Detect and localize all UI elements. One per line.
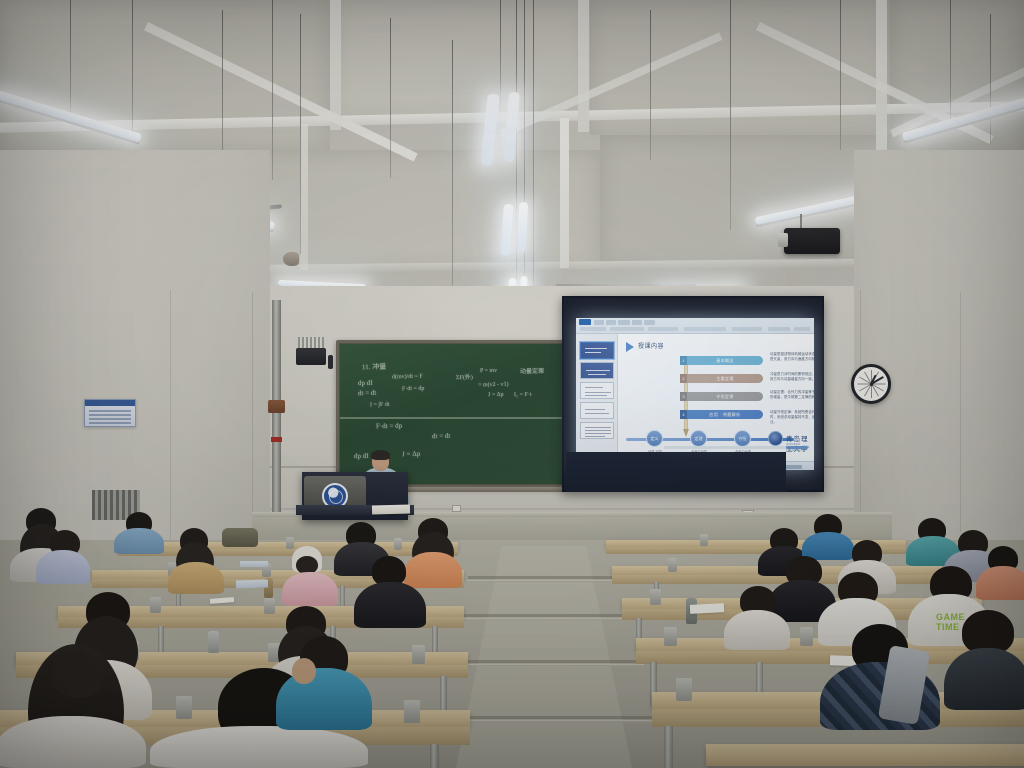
chalk-text: dp dI [354,452,369,460]
slide-thumbnail[interactable] [580,382,614,399]
desk-clamp [286,537,294,549]
ceiling-beam [578,0,589,132]
slide-stage: 授课内容 1 基本概念 动量是描述物体机械运动状态的量，它是矢量，其方向与速度方… [618,334,814,461]
lecture-hall-photo: 11. 冲量 dp dI dt = dt d(mv)/dt = F F·dt =… [0,0,1024,768]
banner-row: 应用 · 例题解析 [687,410,763,419]
slide-thumbnail[interactable] [580,402,614,419]
ceiling-beam [330,0,341,130]
chalk-text: F·dt = dp [402,386,425,392]
banner-number: 2 [680,374,687,383]
notebook [236,579,268,588]
timeline-node: 守恒 [734,430,751,447]
water-bottle [208,631,219,653]
timeline-node: 定理 [690,430,707,447]
chalk-text: dt = dt [432,432,451,440]
chalk-text: I₂ = F·t [514,392,532,398]
chalk-text: P = mv [480,368,497,374]
pipe-marker [271,437,282,442]
room-information-placard [84,399,136,427]
slide-thumbnail[interactable] [580,362,614,379]
tshirt-text: GAME TIME [936,612,965,632]
ribbon-tab-active[interactable] [579,319,591,325]
banner-note: 动量守恒定律：系统所受合外力为零时，系统总动量保持不变，适用范围广泛。 [770,410,814,425]
right-wall [854,150,1024,560]
ceiling-beam [300,124,308,270]
desk-clamp [676,678,692,701]
ceiling-beam [560,118,569,268]
backpack [222,528,258,547]
desk-clamp [650,589,661,605]
chalk-text: 11. 冲量 [362,362,386,373]
university-logo-icon [768,431,783,446]
screen-lower-board [566,452,786,492]
chalk-text: = m(v2 - v1) [478,382,509,389]
chalk-text: J = Δp [488,392,504,398]
ceiling-projector [784,228,840,254]
horn-speaker-icon [283,252,299,266]
chalk-text: J = Δp [402,450,420,458]
desk-clamp [412,645,425,664]
speaker-grill-icon [298,337,324,348]
slide-thumbnail[interactable] [580,342,614,359]
powerpoint-ribbon [576,318,814,334]
banner-note: 动量定理：合外力的冲量等于质点动量的增量，是牛顿第二定律的积分形式。 [770,390,814,400]
wall-amplifier[interactable] [296,348,326,365]
desk-clamp [404,700,420,723]
ceiling-beam [876,0,887,150]
fire-standpipe [272,300,281,530]
pipe-valve[interactable] [268,400,285,413]
timeline-node: 定义 [646,430,663,447]
banner-row: 基本概念 [687,356,763,365]
desk-clamp [668,558,677,572]
banner-row: 主要定理 [687,374,763,383]
horizontal-scrollbar[interactable] [664,446,808,449]
chalk-text: ΣF(外) [456,372,473,381]
desk-clamp [800,627,813,646]
paper-sheet [690,603,724,614]
desk-clamp [264,598,275,614]
banner-number: 3 [680,392,687,401]
desk-clamp [150,597,161,613]
lecturer-hair [371,450,390,460]
desk-clamp [394,538,402,550]
chalk-text: F·dt = dp [376,422,402,431]
banner-note: 冲量是力对时间的累积效应，是矢量，其方向与动量增量方向一致。 [770,372,814,382]
projector-lens-icon [778,233,788,247]
blackboard: 11. 冲量 dp dI dt = dt d(mv)/dt = F F·dt =… [336,340,568,488]
desk-clamp [700,534,708,546]
microphone-handset[interactable] [328,355,333,369]
slide-thumbnail[interactable] [580,422,614,439]
chalk-text: d(mv)/dt = F [392,374,423,381]
chalk-text: dp dI [358,379,373,387]
chalk-text: dt = dt [358,389,377,397]
slide-thumbnail-panel[interactable] [576,334,618,461]
wall-clock [851,364,891,404]
bench-desk [706,744,1024,766]
projected-slide: 授课内容 1 基本概念 动量是描述物体机械运动状态的量，它是矢量，其方向与速度方… [576,318,814,470]
lecture-notes [372,505,410,515]
slide-title: 授课内容 [638,341,664,350]
banner-number: 1 [680,356,687,365]
banner-row: 守恒定律 [687,392,763,401]
banner-number: 4 [680,410,687,419]
wall-outlet[interactable] [452,505,461,512]
notebook [240,561,268,567]
banner-note: 动量是描述物体机械运动状态的量，它是矢量，其方向与速度方向相同。 [770,352,814,362]
slide-title-marker-icon [626,342,634,352]
chalk-text: 动量定理 [520,366,544,376]
chalk-text: I = ∫F dt [370,402,390,408]
desk-clamp [664,627,677,646]
desk-clamp [176,696,192,719]
